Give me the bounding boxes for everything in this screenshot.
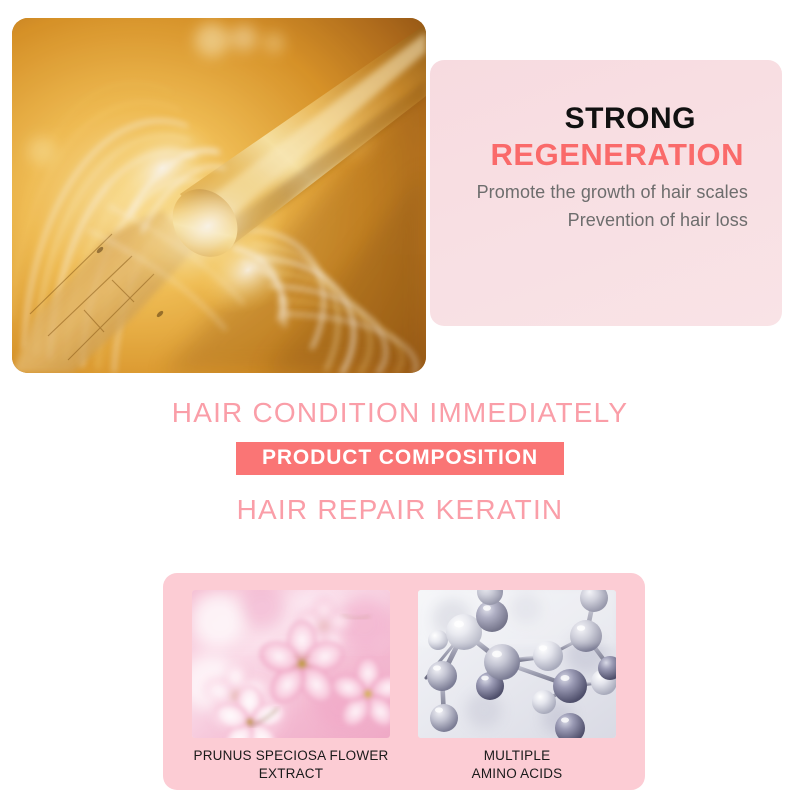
claim-title-strong: STRONG [450, 102, 748, 136]
molecule-structure-photo [418, 590, 616, 738]
heading-hair-condition: HAIR CONDITION IMMEDIATELY [0, 398, 800, 427]
cherry-blossom-photo [192, 590, 390, 738]
ingredients-card: PRUNUS SPECIOSA FLOWER EXTRACT [163, 573, 645, 790]
hero-golden-hair-image [12, 18, 426, 373]
strong-regeneration-claim-panel: STRONG REGENERATION Promote the growth o… [430, 60, 782, 326]
product-composition-badge: PRODUCT COMPOSITION [236, 442, 564, 475]
ingredient-item-amino-acids: MULTIPLE AMINO ACIDS [418, 590, 616, 790]
claim-benefit-line-1: Promote the growth of hair scales [450, 179, 748, 207]
ingredient-caption-flower-extract: PRUNUS SPECIOSA FLOWER EXTRACT [192, 747, 390, 783]
center-heading-block: HAIR CONDITION IMMEDIATELY PRODUCT COMPO… [0, 398, 800, 525]
heading-hair-repair-keratin: HAIR REPAIR KERATIN [0, 495, 800, 524]
claim-title-regeneration: REGENERATION [450, 136, 748, 174]
claim-benefit-line-2: Prevention of hair loss [450, 207, 748, 235]
ingredient-item-flower-extract: PRUNUS SPECIOSA FLOWER EXTRACT [192, 590, 390, 790]
ingredient-caption-amino-acids: MULTIPLE AMINO ACIDS [418, 747, 616, 783]
product-marketing-page: STRONG REGENERATION Promote the growth o… [0, 0, 800, 800]
